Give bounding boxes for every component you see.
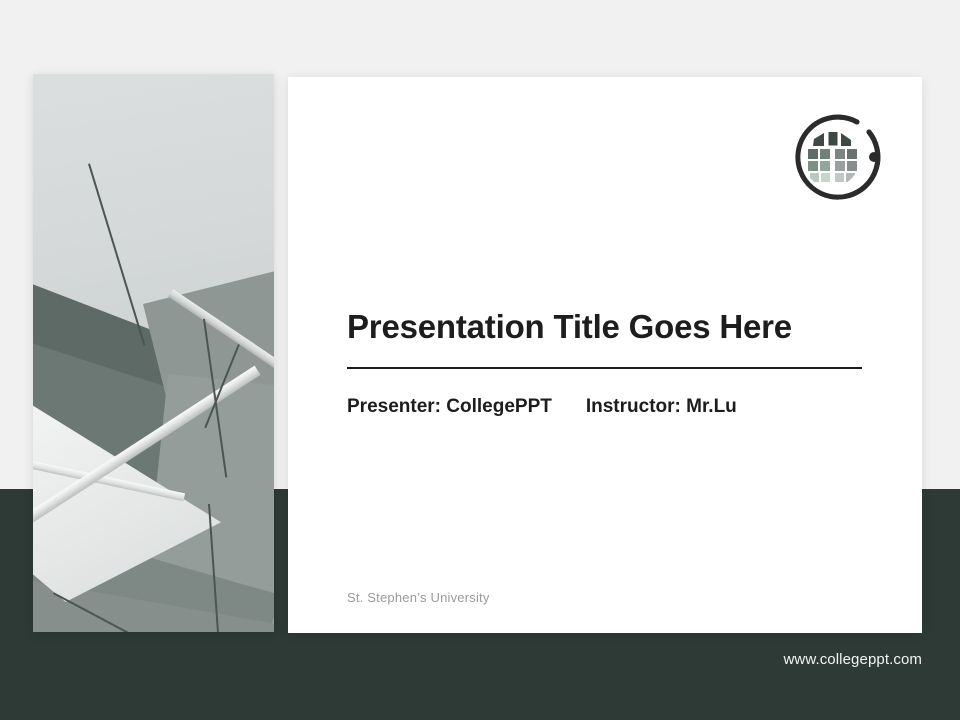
globe-grid-logo-icon <box>783 106 885 208</box>
presenter-label: Presenter: CollegePPT <box>347 396 552 417</box>
presentation-slide: Presentation Title Goes Here Presenter: … <box>0 0 960 720</box>
title-divider <box>347 367 862 369</box>
photo-canvas <box>33 74 274 632</box>
organization-name: St. Stephen’s University <box>347 590 490 605</box>
architecture-ceiling-photo <box>33 74 274 632</box>
instructor-label: Instructor: Mr.Lu <box>586 396 737 417</box>
byline: Presenter: CollegePPTInstructor: Mr.Lu <box>347 396 737 418</box>
website-url: www.collegeppt.com <box>783 651 922 668</box>
page-title: Presentation Title Goes Here <box>347 306 887 348</box>
